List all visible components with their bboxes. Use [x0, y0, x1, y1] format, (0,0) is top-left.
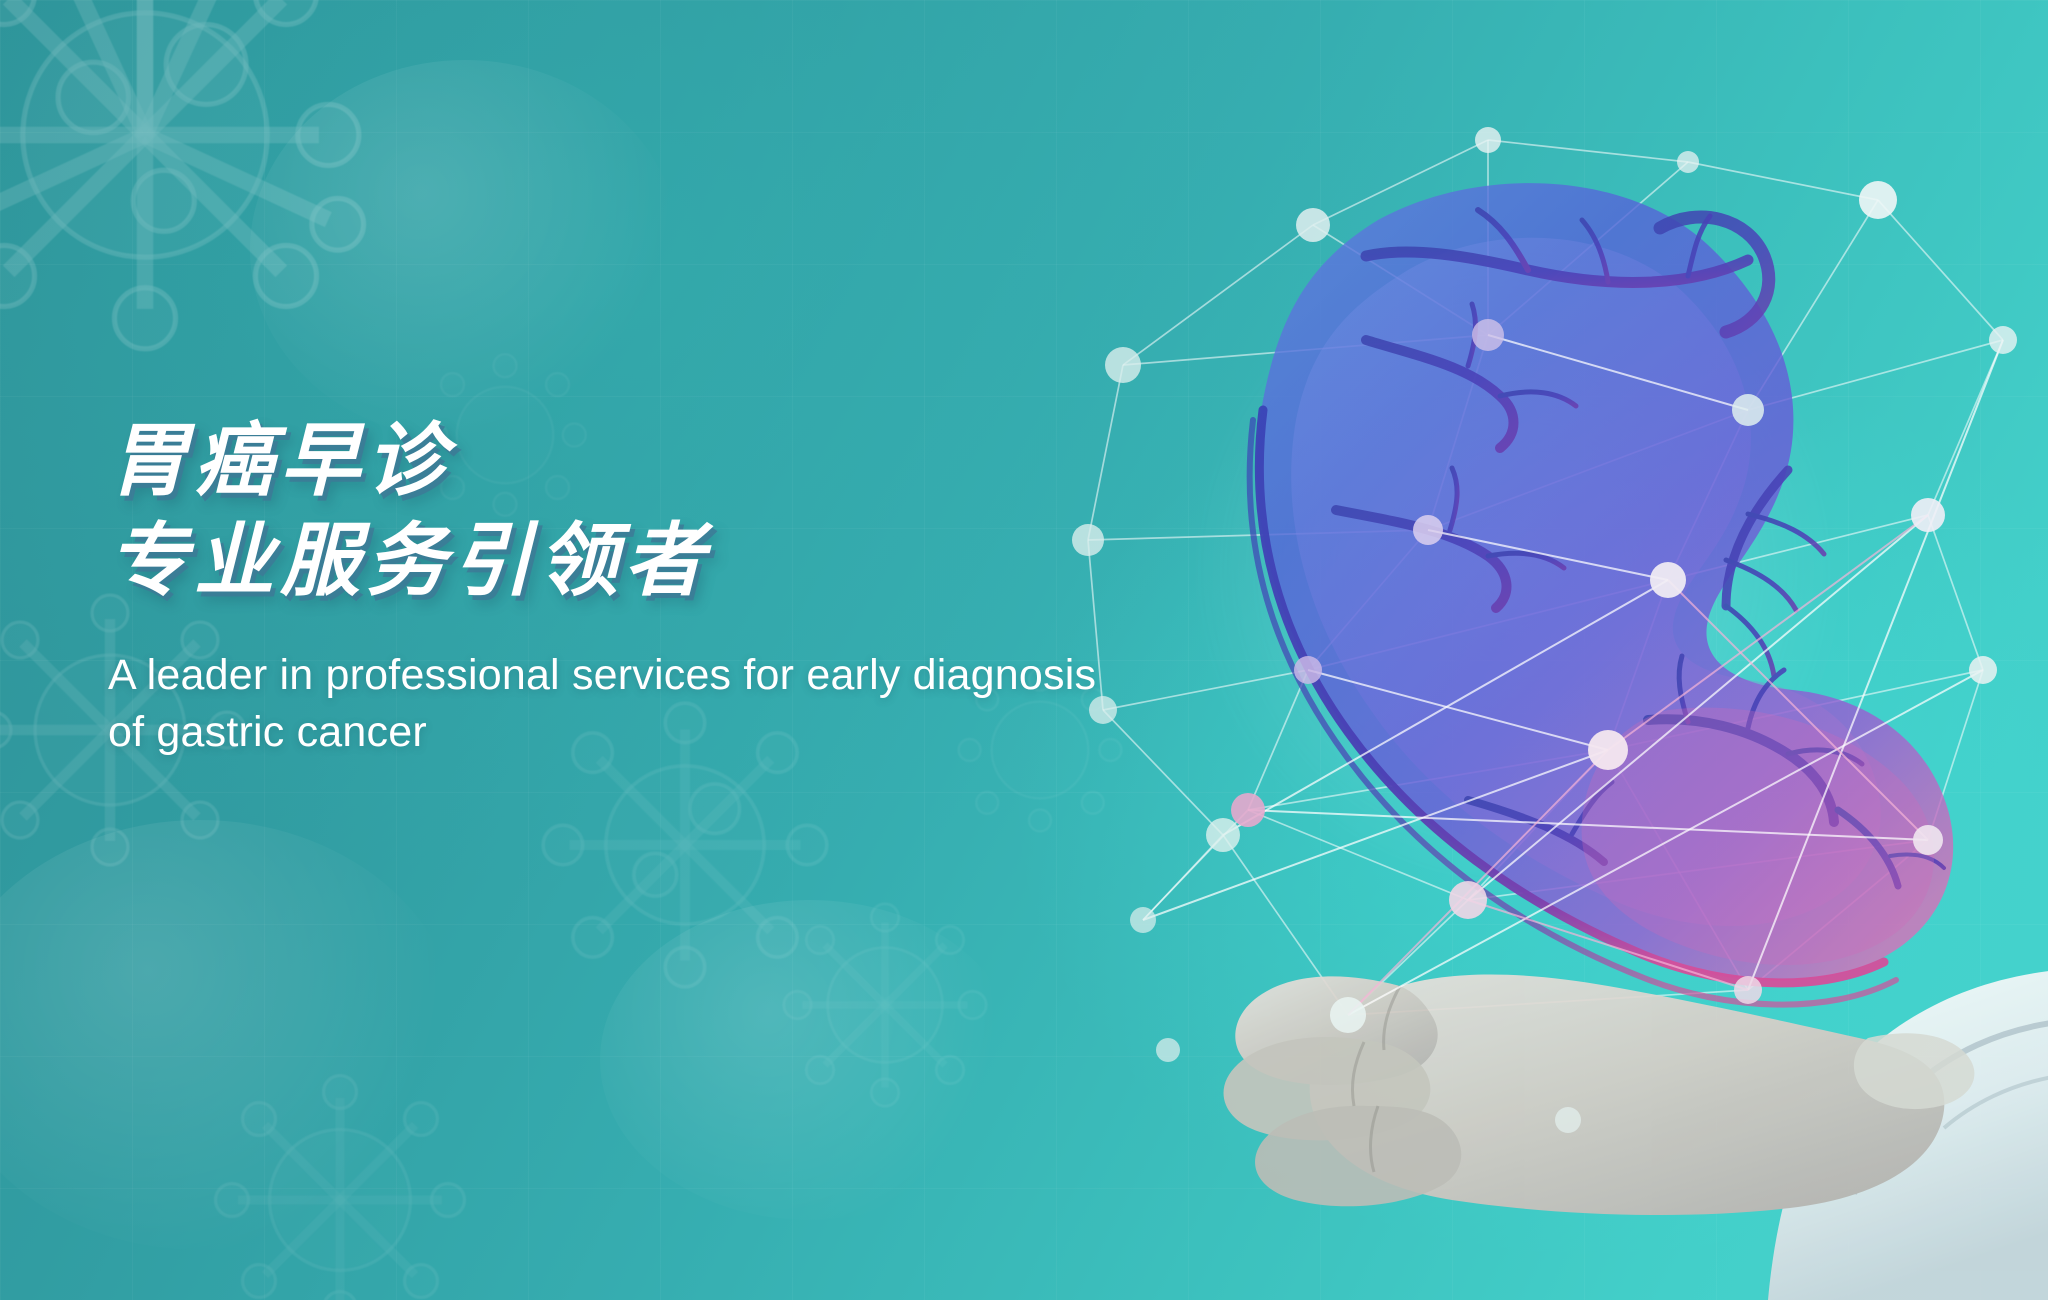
hero-copy: 胃癌早诊 专业服务引领者 A leader in professional se… [108, 418, 1148, 760]
virus-icon [0, 0, 380, 370]
virus-icon [190, 1050, 490, 1300]
hero-banner: 胃癌早诊 专业服务引领者 A leader in professional se… [0, 0, 2048, 1300]
virus-icon [760, 880, 1010, 1130]
page-subtitle: A leader in professional services for ea… [108, 647, 1118, 761]
light-blob [600, 900, 1020, 1220]
headline-line-2: 专业服务引领者 [108, 518, 1148, 604]
light-blob [250, 60, 680, 440]
stomach-model [1188, 183, 1953, 1004]
light-blob [0, 820, 460, 1250]
headline-line-1: 胃癌早诊 [108, 418, 1148, 504]
page-title: 胃癌早诊 专业服务引领者 [108, 418, 1148, 605]
stomach-illustration [1048, 110, 2048, 1300]
